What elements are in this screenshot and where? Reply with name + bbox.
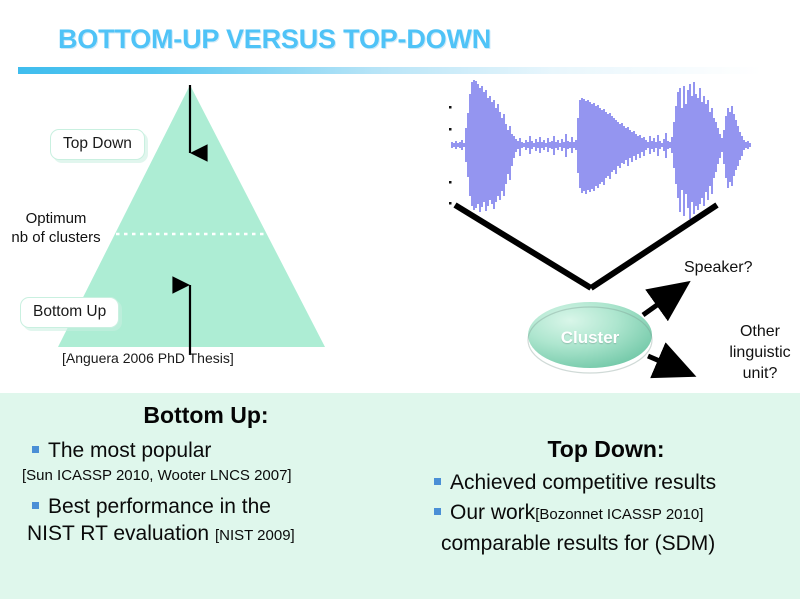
bottom-up-bullet-1: The most popular [32,438,412,464]
bottom-up-bullet-2-text: Best performance in the [48,494,271,520]
bottom-up-bullet-2-continuation: NIST RT evaluation [NIST 2009] [27,521,412,549]
speaker-question-label: Speaker? [684,257,753,278]
arrow-to-speaker [643,285,685,315]
bullet-square-icon [32,502,39,509]
top-down-bullet-2-text: Our work [450,500,535,526]
bottom-up-reference-1: [Sun ICASSP 2010, Wooter LNCS 2007] [22,465,412,487]
summary-column-bottom-up: Bottom Up: The most popular [Sun ICASSP … [0,393,412,549]
top-down-reference-1: [Bozonnet ICASSP 2010] [535,502,703,528]
top-down-bullet-1-text: Achieved competitive results [450,470,716,496]
funnel-line-left [455,205,591,288]
other-linguistic-unit-label: Other linguistic unit? [717,321,800,384]
optimum-cluster-label: Optimum nb of clusters [0,209,120,247]
slide: BOTTOM-UP VERSUS TOP-DOWN Top Down [0,0,800,599]
bottom-up-bullet-2: Best performance in the [32,494,412,520]
bottom-up-heading: Bottom Up: [0,402,412,429]
callout-bottom-up-label: Bottom Up [33,303,106,320]
callout-top-down-label: Top Down [63,135,132,152]
title-underline-bar [18,67,762,74]
top-down-bullet-2: Our work[Bozonnet ICASSP 2010] [434,500,800,528]
summary-panel: Bottom Up: The most popular [Sun ICASSP … [0,393,800,599]
bullet-square-icon [434,478,441,485]
waveform-flow-diagram: Cluster Speaker? Other linguistic unit? [400,78,800,393]
top-down-heading: Top Down: [412,436,800,463]
waveform-axis-ticks [449,106,452,205]
pyramid-diagram: Top Down Bottom Up Optimum nb of cluster… [0,78,400,393]
callout-bottom-up: Bottom Up [20,297,119,328]
callout-top-down: Top Down [50,129,145,160]
top-down-bullet-2-continuation: comparable results for (SDM) [441,531,800,557]
pyramid-reference: [Anguera 2006 PhD Thesis] [62,350,234,366]
optimum-line-1: Optimum [0,209,120,228]
top-down-bullet-1: Achieved competitive results [434,470,800,496]
bullet-square-icon [434,508,441,515]
optimum-line-2: nb of clusters [0,228,120,247]
bottom-up-line4-main: NIST RT evaluation [27,522,209,545]
cluster-ellipse [528,302,652,368]
speech-waveform [452,80,750,219]
page-title: BOTTOM-UP VERSUS TOP-DOWN [58,24,491,55]
arrow-to-other-unit [648,356,690,374]
bullet-square-icon [32,446,39,453]
bottom-up-bullet-1-text: The most popular [48,438,211,464]
bottom-up-reference-2: [NIST 2009] [215,527,295,544]
summary-column-top-down: Top Down: Achieved competitive results O… [412,393,800,557]
